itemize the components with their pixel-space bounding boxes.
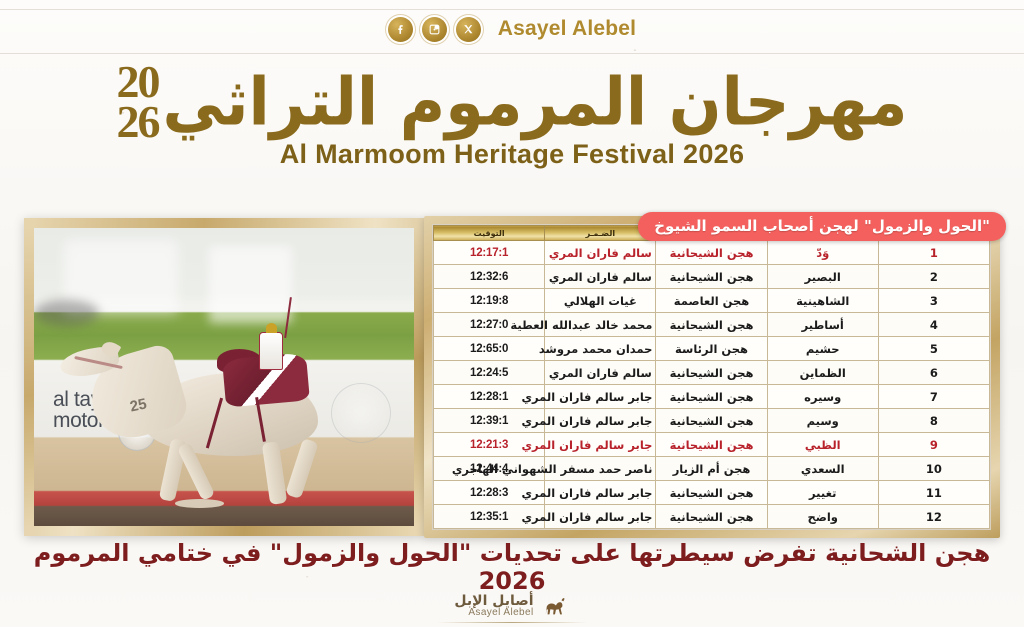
cell-owner: هجن الشيحانية [656,481,767,505]
cell-num: 10 [878,457,989,481]
cell-num: 1 [878,241,989,265]
camel-logo-icon [540,593,570,619]
cell-trainer: محمد خالد عبدالله العطية [545,313,656,337]
cell-num: 5 [878,337,989,361]
cell-mount: الظماين [767,361,878,385]
cell-mount: تغيير [767,481,878,505]
cell-owner: هجن الشيحانية [656,385,767,409]
cell-owner: هجن العاصمة [656,289,767,313]
logo-year-stack: 20 26 [117,62,159,141]
table-row: 10السعديهجن أم الزيارناصر حمد مسفر الشهو… [434,457,990,481]
headline-caption: هجن الشحانية تفرض سيطرتها على تحديات "ال… [0,540,1024,595]
table-row: 3الشاهينيةهجن العاصمةغيات الهلالي12:19:8 [434,289,990,313]
cell-num: 11 [878,481,989,505]
table-row: 8وسيمهجن الشيحانيةجابر سالم فاران المري1… [434,409,990,433]
cell-num: 7 [878,385,989,409]
camel-hoof [175,499,224,508]
racing-camel: 25 [49,335,399,508]
table-row: 5حشيمهجن الرئاسةحمدان محمد مروشد12:65:0 [434,337,990,361]
cell-owner: هجن الشيحانية [656,409,767,433]
cell-num: 4 [878,313,989,337]
cell-trainer: سالم فاران المري [545,361,656,385]
table-row: 4أساطيرهجن الشيحانيةمحمد خالد عبدالله ال… [434,313,990,337]
cell-trainer: جابر سالم فاران المري [545,481,656,505]
photo-backdrop-2 [209,246,293,323]
results-table: ش المطية المـــالك الضـمـر التوقيت 1وَدّ… [433,225,990,529]
results-board-frame: ش المطية المـــالك الضـمـر التوقيت 1وَدّ… [424,216,1000,538]
footer-logo: أصايل الإبل Asayel Alebel [0,593,1024,619]
top-social-bar: Asayel Alebel [0,0,1024,58]
cell-time: 12:32:6 [434,265,545,289]
table-row: 7وسيرههجن الشيحانيةجابر سالم فاران المري… [434,385,990,409]
table-row: 2البصيرهجن الشيحانيةسالم فاران المري12:3… [434,265,990,289]
table-row: 6الظماينهجن الشيحانيةسالم فاران المري12:… [434,361,990,385]
table-row: 12واضحهجن الشيحانيةجابر سالم فاران المري… [434,505,990,529]
brand-name: Asayel Alebel [498,17,636,41]
results-table-body: 1وَدّهجن الشيحانيةسالم فاران المري12:17:… [434,241,990,529]
table-row: 9الظبيهجن الشيحانيةجابر سالم فاران المري… [434,433,990,457]
cell-mount: واضح [767,505,878,529]
cell-trainer: جابر سالم فاران المري [545,505,656,529]
photo-scene: al tayer motors الطاير موتورز 25 [34,228,414,526]
cell-time: 12:19:8 [434,289,545,313]
cell-trainer: جابر سالم فاران المري [545,409,656,433]
cell-trainer: سالم فاران المري [545,241,656,265]
cell-num: 8 [878,409,989,433]
cell-mount: السعدي [767,457,878,481]
cell-trainer: جابر سالم فاران المري [545,433,656,457]
table-row: 11تغييرهجن الشيحانيةجابر سالم فاران المر… [434,481,990,505]
facebook-icon[interactable] [388,17,413,42]
cell-owner: هجن الشيحانية [656,241,767,265]
cell-num: 6 [878,361,989,385]
cell-owner: هجن الشيحانية [656,265,767,289]
header-time: التوقيت [434,226,545,241]
cell-trainer: ناصر حمد مسفر الشهواني الهاجري [545,457,656,481]
cell-num: 12 [878,505,989,529]
robot-jockey [259,332,283,370]
cell-mount: أساطير [767,313,878,337]
cell-owner: هجن الرئاسة [656,337,767,361]
logo-english-text: Al Marmoom Heritage Festival [280,139,676,169]
cell-trainer: حمدان محمد مروشد [545,337,656,361]
x-twitter-icon[interactable] [456,17,481,42]
cell-time: 12:65:0 [434,337,545,361]
footer-logo-english: Asayel Alebel [454,608,533,618]
festival-logo: 20 26 مهرجان المرموم التراثي Al Marmoom … [0,62,1024,170]
cell-owner: هجن الشيحانية [656,361,767,385]
cell-trainer: جابر سالم فاران المري [545,385,656,409]
cell-time: 12:24:5 [434,361,545,385]
cell-mount: حشيم [767,337,878,361]
logo-english-year: 2026 [683,139,744,169]
logo-arabic-title: مهرجان المرموم التراثي [163,67,908,136]
cell-num: 9 [878,433,989,457]
results-board-inner: ش المطية المـــالك الضـمـر التوقيت 1وَدّ… [432,224,991,530]
table-row: 1وَدّهجن الشيحانيةسالم فاران المري12:17:… [434,241,990,265]
cell-num: 3 [878,289,989,313]
photo-backdrop-3 [34,300,99,327]
cell-trainer: غيات الهلالي [545,289,656,313]
cell-owner: هجن أم الزيار [656,457,767,481]
cell-mount: البصير [767,265,878,289]
cell-owner: هجن الشيحانية [656,505,767,529]
cell-mount: الظبي [767,433,878,457]
cell-owner: هجن الشيحانية [656,313,767,337]
footer-logo-arabic: أصايل الإبل [454,594,533,608]
camel-leg-rear-left [262,441,288,505]
footer-divider [437,622,587,623]
cell-owner: هجن الشيحانية [656,433,767,457]
cell-mount: وَدّ [767,241,878,265]
race-title-banner: "الحول والزمول" لهجن أصحاب السمو الشيوخ [638,212,1006,241]
cell-mount: وسيم [767,409,878,433]
cell-time: 12:17:1 [434,241,545,265]
cell-num: 2 [878,265,989,289]
logo-year-bottom: 26 [117,102,159,142]
cell-trainer: سالم فاران المري [545,265,656,289]
logo-english-title: Al Marmoom Heritage Festival 2026 [280,139,745,170]
race-photo: al tayer motors الطاير موتورز 25 [24,218,424,536]
cell-mount: وسيره [767,385,878,409]
cell-mount: الشاهينية [767,289,878,313]
instagram-icon[interactable] [422,17,447,42]
